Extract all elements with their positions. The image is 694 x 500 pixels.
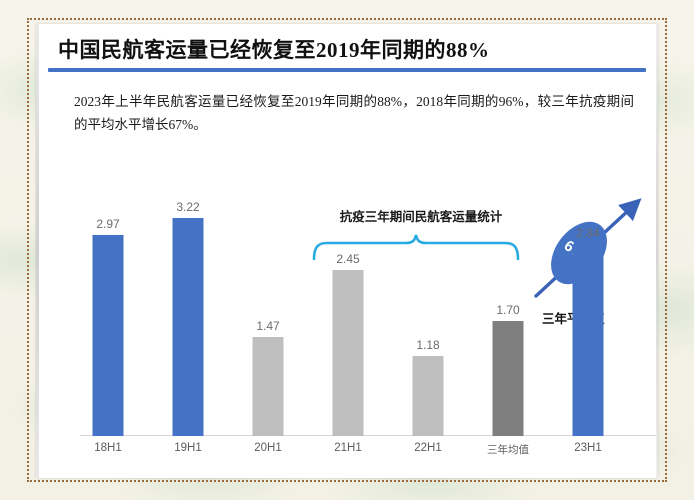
bar-19H1 (173, 218, 204, 436)
bar-value-label: 1.18 (416, 338, 439, 352)
bar-chart: 抗疫三年期间民航客运量统计 67% 三年平均值 2.9718H13.2219H1… (50, 174, 646, 470)
title-underline-rule (48, 68, 646, 72)
bar-group: 3.2219H1 (148, 174, 228, 436)
bar-value-label: 2.97 (96, 217, 119, 231)
category-label-19H1: 19H1 (174, 442, 202, 454)
bar-22H1 (413, 356, 444, 436)
bar-20H1 (253, 337, 284, 436)
bar-group: 2.9718H1 (68, 174, 148, 436)
bar-group: 1.4720H1 (228, 174, 308, 436)
category-label-三年均值: 三年均值 (487, 442, 529, 457)
slide-card: 中国民航客运量已经恢复至2019年同期的88% 2023年上半年民航客运量已经恢… (36, 24, 658, 478)
category-label-22H1: 22H1 (414, 442, 442, 454)
bar-group: 1.1822H1 (388, 174, 468, 436)
bar-三年均值 (493, 321, 524, 436)
lead-paragraph: 2023年上半年民航客运量已经恢复至2019年同期的88%，2018年同期的96… (74, 90, 634, 136)
slide-left-edge (36, 24, 39, 478)
page-title: 中国民航客运量已经恢复至2019年同期的88% (58, 34, 638, 64)
bar-group: 2.4521H1 (308, 174, 388, 436)
category-label-23H1: 23H1 (574, 442, 602, 454)
bar-value-label: 2.84 (576, 226, 599, 240)
bar-18H1 (93, 235, 124, 436)
category-label-18H1: 18H1 (94, 442, 122, 454)
bar-group: 1.70三年均值 (468, 174, 548, 436)
bar-23H1 (573, 244, 604, 436)
bar-21H1 (333, 270, 364, 436)
bar-value-label: 1.70 (496, 303, 519, 317)
chart-plot-area: 抗疫三年期间民航客运量统计 67% 三年平均值 2.9718H13.2219H1… (68, 174, 628, 436)
category-label-20H1: 20H1 (254, 442, 282, 454)
bar-value-label: 3.22 (176, 200, 199, 214)
bar-group: 2.8423H1 (548, 174, 628, 436)
bar-value-label: 1.47 (256, 319, 279, 333)
category-label-21H1: 21H1 (334, 442, 362, 454)
bar-value-label: 2.45 (336, 252, 359, 266)
